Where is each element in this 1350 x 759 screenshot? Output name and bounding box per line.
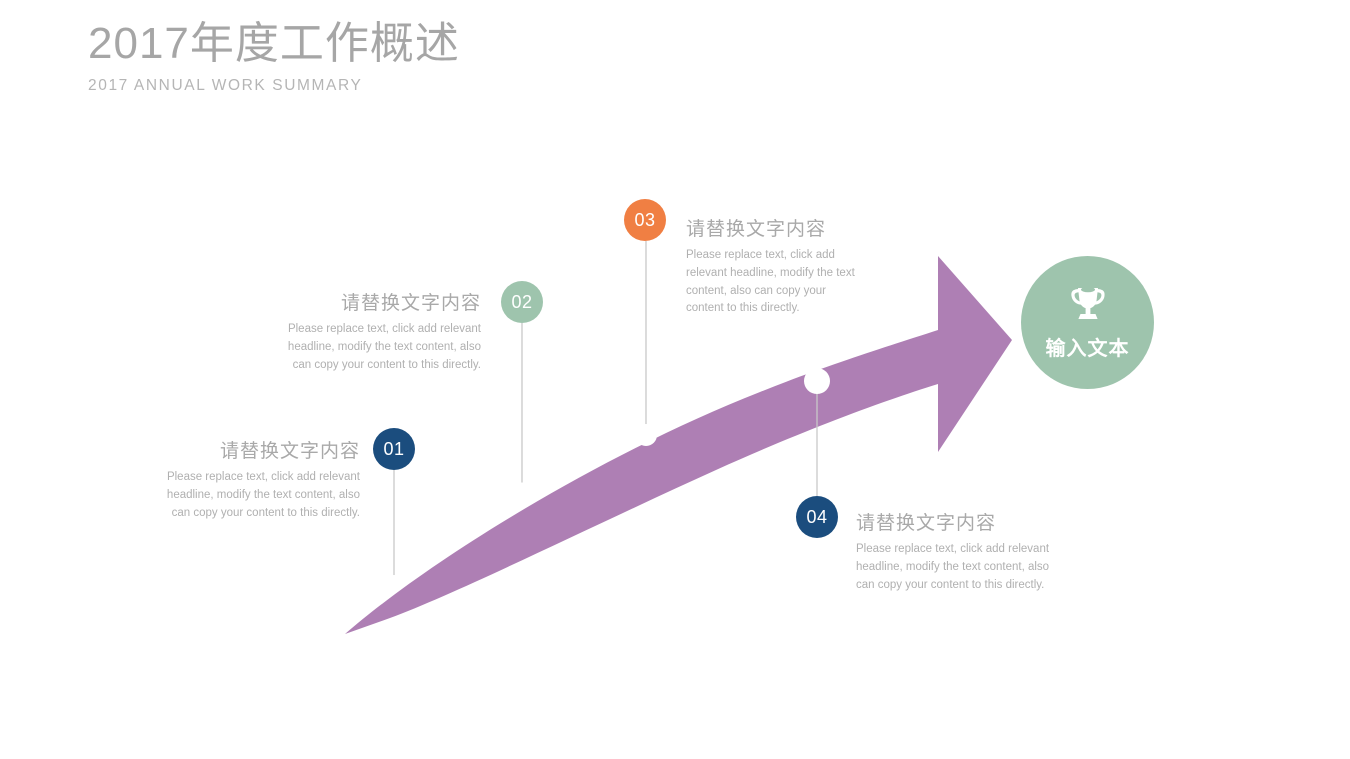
step-badge-01-number: 01 — [383, 439, 404, 460]
step-badge-04[interactable]: 04 — [796, 496, 838, 538]
step-body-02: Please replace text, click add relevant … — [268, 321, 481, 374]
step-heading-02: 请替换文字内容 — [268, 288, 481, 315]
step-heading-04: 请替换文字内容 — [856, 508, 1061, 535]
ribbon-marker-dot-03 — [635, 424, 657, 446]
step-badge-01[interactable]: 01 — [373, 428, 415, 470]
ribbon-marker-dot-04 — [804, 368, 830, 394]
step-badge-02-number: 02 — [511, 292, 532, 313]
step-badge-02[interactable]: 02 — [501, 281, 543, 323]
step-text-01: 请替换文字内容 Please replace text, click add r… — [146, 436, 360, 522]
step-body-04: Please replace text, click add relevant … — [856, 541, 1061, 594]
step-badge-03-number: 03 — [634, 210, 655, 231]
step-text-04: 请替换文字内容 Please replace text, click add r… — [856, 508, 1061, 594]
step-text-03: 请替换文字内容 Please replace text, click add r… — [686, 214, 862, 318]
goal-circle[interactable]: 输入文本 — [1021, 256, 1154, 389]
goal-label: 输入文本 — [1046, 332, 1130, 361]
ribbon-marker-dot-02 — [513, 483, 532, 502]
step-heading-03: 请替换文字内容 — [686, 214, 862, 241]
step-text-02: 请替换文字内容 Please replace text, click add r… — [268, 288, 481, 374]
arrow-diagram — [0, 0, 1350, 759]
step-badge-03[interactable]: 03 — [624, 199, 666, 241]
step-badge-04-number: 04 — [806, 507, 827, 528]
step-body-03: Please replace text, click add relevant … — [686, 247, 862, 318]
step-heading-01: 请替换文字内容 — [146, 436, 360, 463]
slide-canvas: 2017年度工作概述 2017 ANNUAL WORK SUMMARY 01 0… — [0, 0, 1350, 759]
trophy-icon — [1068, 285, 1108, 328]
ribbon-marker-dot-01 — [387, 575, 401, 589]
step-body-01: Please replace text, click add relevant … — [146, 469, 360, 522]
